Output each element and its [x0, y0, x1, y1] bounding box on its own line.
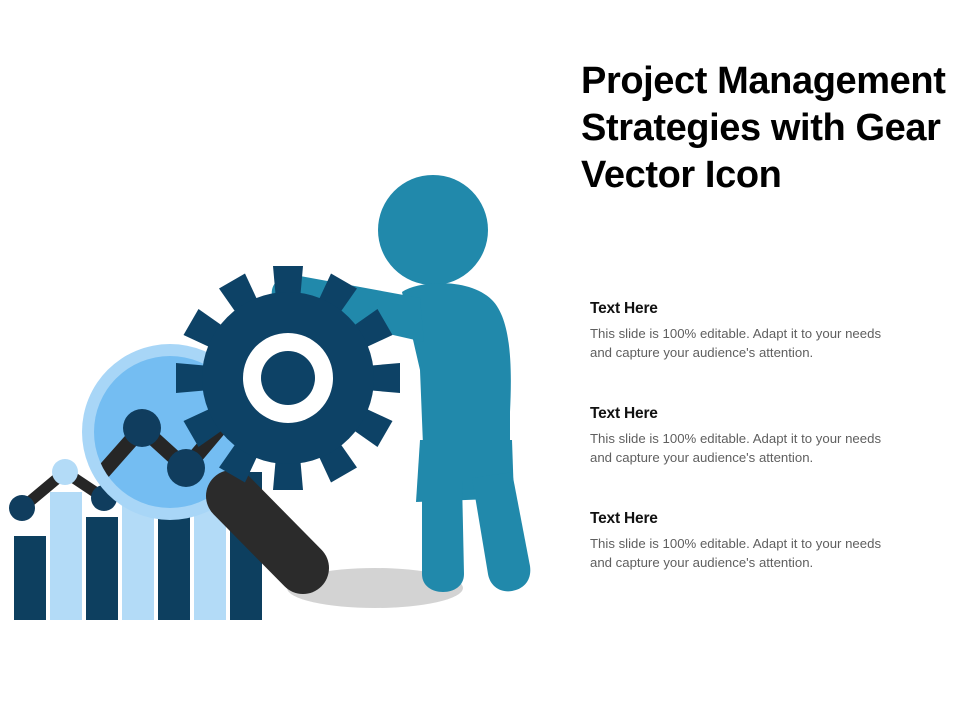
line-node-2	[52, 459, 78, 485]
bar-2	[50, 492, 82, 620]
line-node-1	[9, 495, 35, 521]
bar-3	[86, 517, 118, 620]
text-block-3-body: This slide is 100% editable. Adapt it to…	[590, 535, 892, 572]
text-block-2-body: This slide is 100% editable. Adapt it to…	[590, 430, 892, 467]
slide-canvas: Project Management Strategies with Gear …	[0, 0, 960, 720]
person-leg-left	[422, 480, 464, 592]
text-block-1-body: This slide is 100% editable. Adapt it to…	[590, 325, 892, 362]
mag-node-2	[167, 449, 205, 487]
text-block-2-heading: Text Here	[590, 405, 960, 423]
person-head	[378, 175, 488, 285]
text-block-1-heading: Text Here	[590, 300, 960, 318]
text-block-3-heading: Text Here	[590, 510, 960, 528]
text-block-3: Text Here This slide is 100% editable. A…	[590, 510, 960, 572]
page-title: Project Management Strategies with Gear …	[581, 58, 953, 199]
illustration	[0, 40, 570, 620]
text-block-list: Text Here This slide is 100% editable. A…	[590, 300, 960, 572]
mag-node-1	[123, 409, 161, 447]
text-block-2: Text Here This slide is 100% editable. A…	[590, 405, 960, 467]
text-block-1: Text Here This slide is 100% editable. A…	[590, 300, 960, 362]
bar-1	[14, 536, 46, 620]
gear-hub	[261, 351, 315, 405]
person-leg-right	[472, 472, 530, 591]
content-column: Project Management Strategies with Gear …	[578, 0, 960, 720]
